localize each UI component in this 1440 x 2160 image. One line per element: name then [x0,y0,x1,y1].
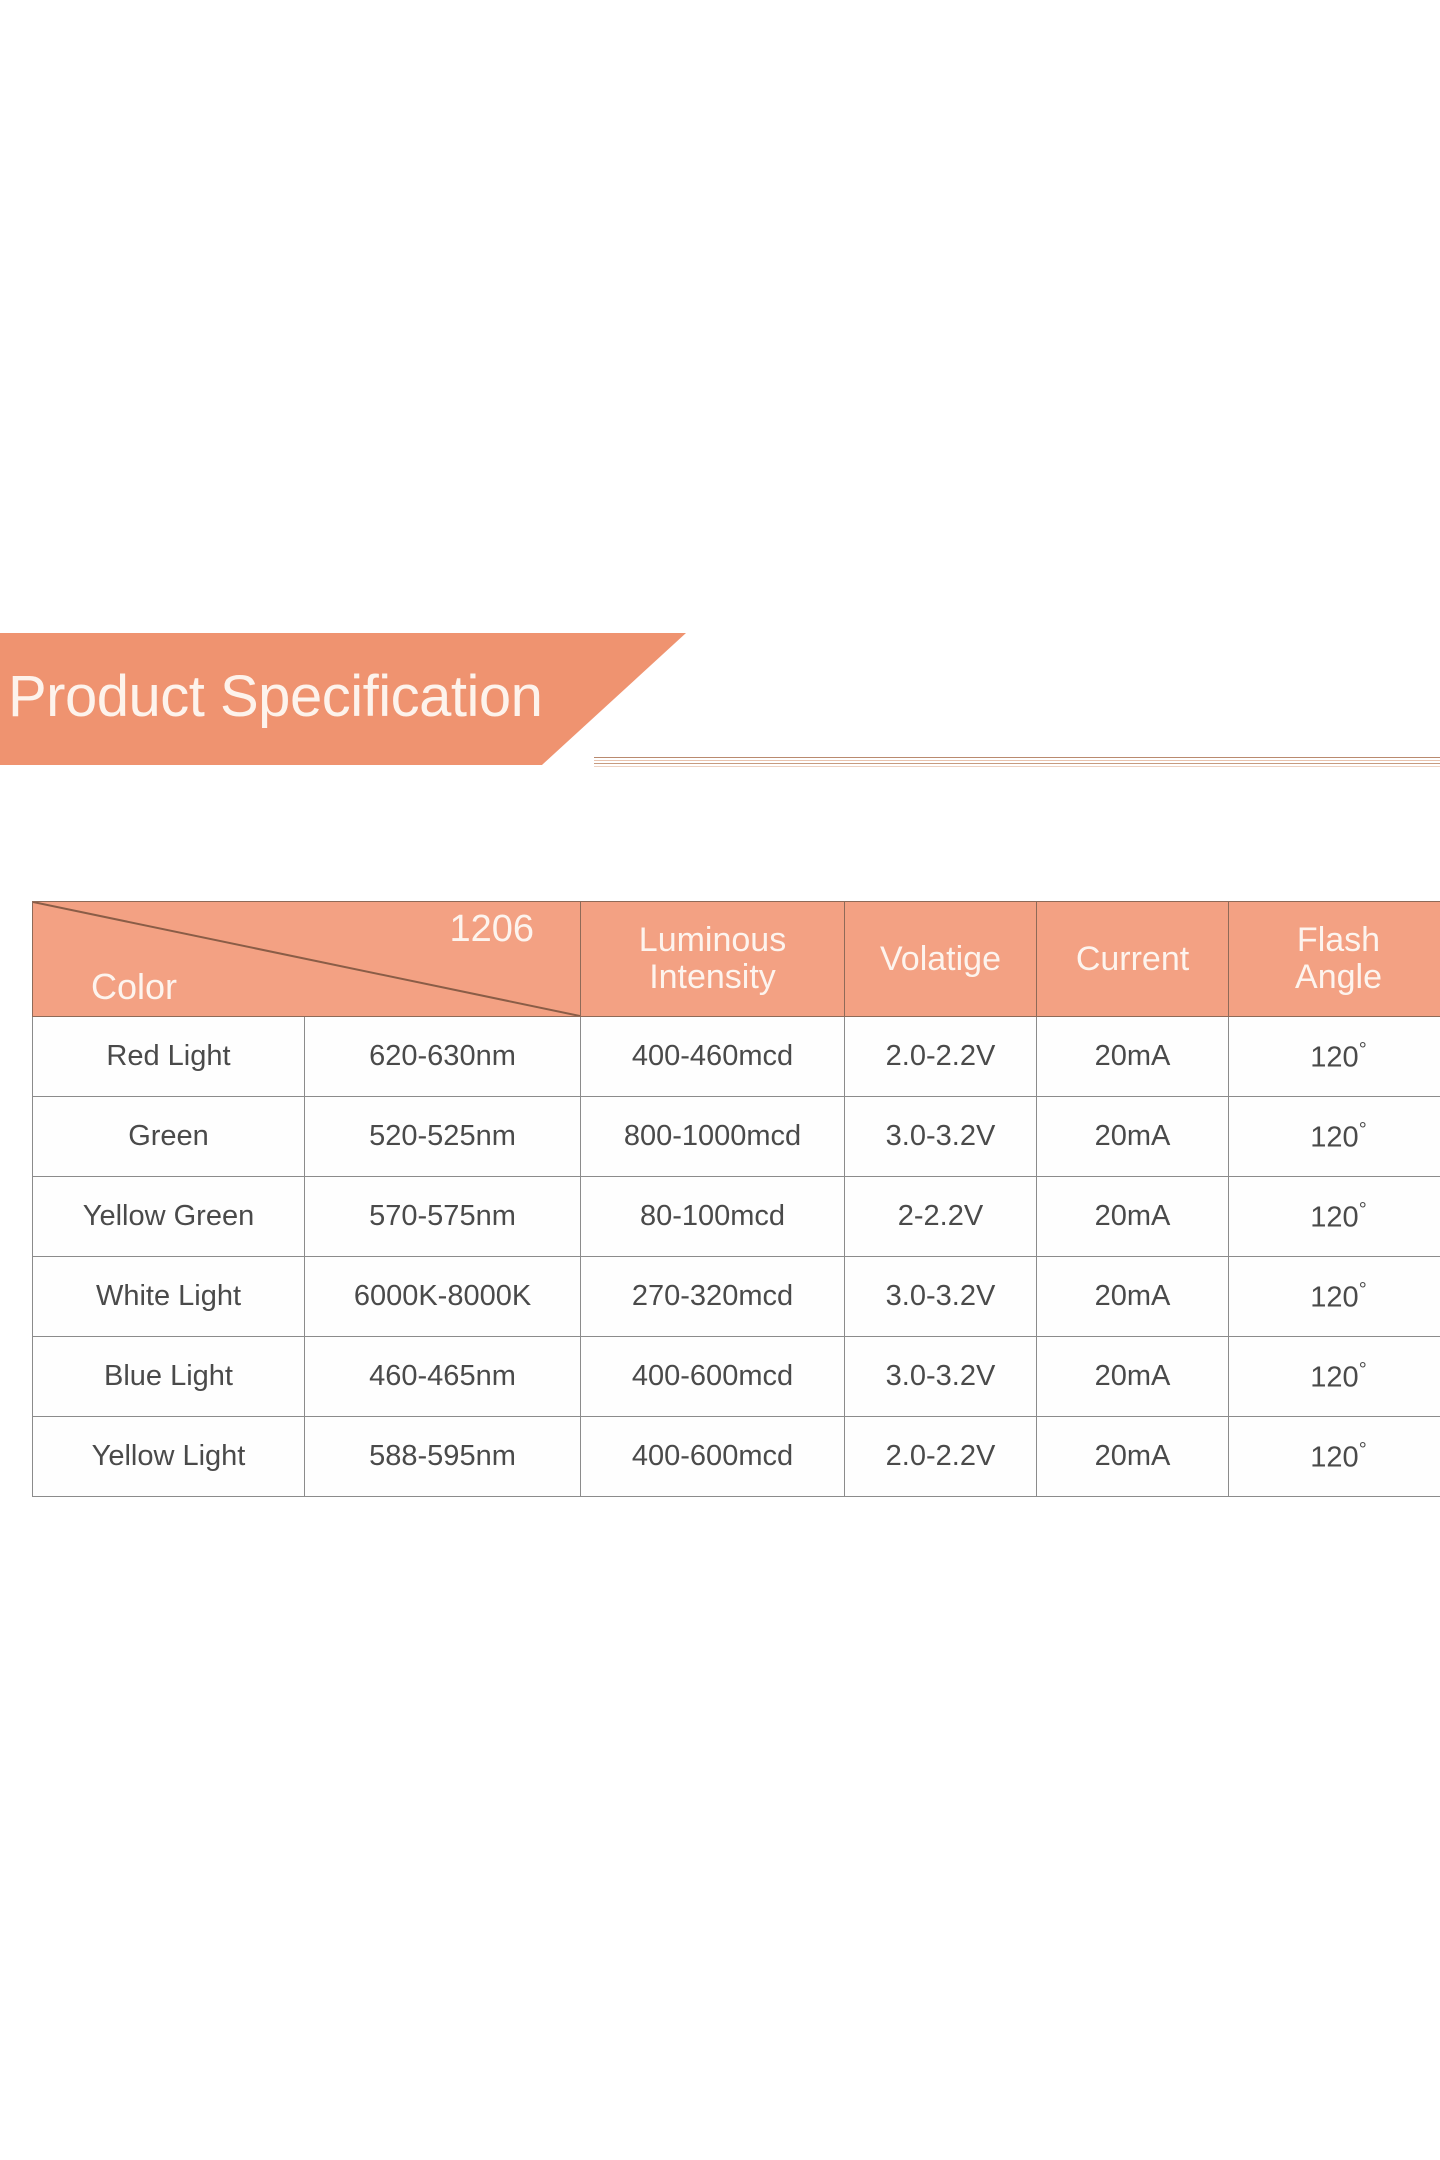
cell-angle: 120° [1229,1337,1440,1417]
header-cell-color-model: Color 1206 [33,902,581,1017]
header-label-intensity: Intensity [581,959,844,996]
table-row: White Light6000K-8000K270-320mcd3.0-3.2V… [33,1257,1440,1337]
cell-wavelength: 6000K-8000K [305,1257,581,1337]
cell-voltage: 3.0-3.2V [845,1337,1037,1417]
cell-current: 20mA [1037,1337,1229,1417]
table-header-row: Color 1206 Luminous Intensity Volatige C… [33,902,1440,1017]
cell-wavelength: 588-595nm [305,1417,581,1497]
cell-wavelength: 570-575nm [305,1177,581,1257]
header-cell-flash-angle: Flash Angle [1229,902,1440,1017]
degree-symbol-icon: ° [1359,1119,1367,1141]
cell-wavelength: 520-525nm [305,1097,581,1177]
angle-value: 120 [1310,1041,1358,1073]
table-row: Yellow Green570-575nm80-100mcd2-2.2V20mA… [33,1177,1440,1257]
cell-color: Yellow Green [33,1177,305,1257]
cell-current: 20mA [1037,1257,1229,1337]
cell-voltage: 3.0-3.2V [845,1097,1037,1177]
cell-current: 20mA [1037,1177,1229,1257]
cell-intensity: 400-600mcd [581,1337,845,1417]
cell-voltage: 2-2.2V [845,1177,1037,1257]
header-label-color: Color [91,966,177,1008]
table-row: Red Light620-630nm400-460mcd2.0-2.2V20mA… [33,1017,1440,1097]
cell-intensity: 80-100mcd [581,1177,845,1257]
angle-value: 120 [1310,1441,1358,1473]
degree-symbol-icon: ° [1359,1359,1367,1381]
banner-underline-2 [594,760,1440,761]
cell-angle: 120° [1229,1017,1440,1097]
cell-color: Red Light [33,1017,305,1097]
cell-color: Green [33,1097,305,1177]
specification-table: Color 1206 Luminous Intensity Volatige C… [32,901,1440,1497]
table-row: Blue Light460-465nm400-600mcd3.0-3.2V20m… [33,1337,1440,1417]
table-body: Red Light620-630nm400-460mcd2.0-2.2V20mA… [33,1017,1440,1497]
cell-intensity: 400-460mcd [581,1017,845,1097]
header-cell-voltage: Volatige [845,902,1037,1017]
degree-symbol-icon: ° [1359,1279,1367,1301]
degree-symbol-icon: ° [1359,1439,1367,1461]
cell-color: White Light [33,1257,305,1337]
cell-intensity: 400-600mcd [581,1417,845,1497]
cell-current: 20mA [1037,1017,1229,1097]
cell-intensity: 800-1000mcd [581,1097,845,1177]
cell-current: 20mA [1037,1417,1229,1497]
cell-voltage: 2.0-2.2V [845,1417,1037,1497]
header-label-flash: Flash [1229,922,1440,959]
banner-underline-3 [594,763,1440,764]
table-row: Green520-525nm800-1000mcd3.0-3.2V20mA120… [33,1097,1440,1177]
cell-angle: 120° [1229,1417,1440,1497]
cell-color: Yellow Light [33,1417,305,1497]
cell-wavelength: 460-465nm [305,1337,581,1417]
cell-wavelength: 620-630nm [305,1017,581,1097]
header-label-angle: Angle [1229,959,1440,996]
header-cell-luminous-intensity: Luminous Intensity [581,902,845,1017]
angle-value: 120 [1310,1201,1358,1233]
product-specification-banner: Product Specification [0,633,1440,773]
angle-value: 120 [1310,1121,1358,1153]
header-label-model: 1206 [449,908,534,951]
cell-current: 20mA [1037,1097,1229,1177]
cell-voltage: 3.0-3.2V [845,1257,1037,1337]
header-label-luminous: Luminous [581,922,844,959]
degree-symbol-icon: ° [1359,1039,1367,1061]
angle-value: 120 [1310,1361,1358,1393]
angle-value: 120 [1310,1281,1358,1313]
cell-intensity: 270-320mcd [581,1257,845,1337]
cell-color: Blue Light [33,1337,305,1417]
cell-angle: 120° [1229,1097,1440,1177]
degree-symbol-icon: ° [1359,1199,1367,1221]
header-cell-current: Current [1037,902,1229,1017]
table-row: Yellow Light588-595nm400-600mcd2.0-2.2V2… [33,1417,1440,1497]
cell-angle: 120° [1229,1257,1440,1337]
banner-title: Product Specification [8,633,542,765]
cell-voltage: 2.0-2.2V [845,1017,1037,1097]
cell-angle: 120° [1229,1177,1440,1257]
banner-underline-4 [594,766,1440,767]
banner-underline-1 [594,757,1440,758]
